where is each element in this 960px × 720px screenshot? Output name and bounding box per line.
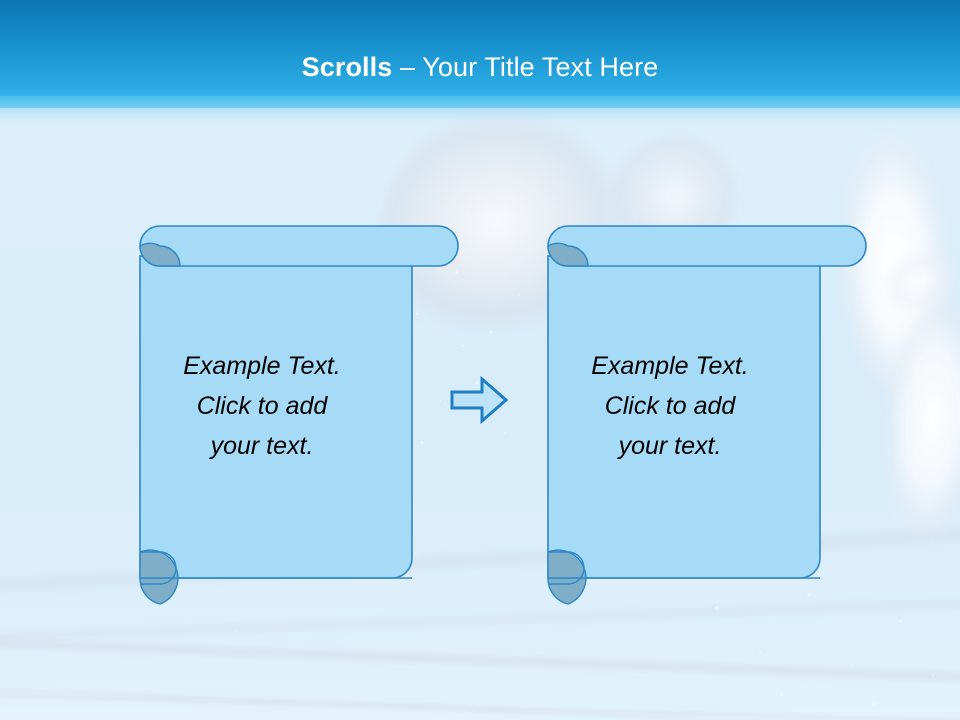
right-scroll-text[interactable]: Example Text. Click to add your text. (530, 346, 810, 466)
left-scroll-shape[interactable]: Example Text. Click to add your text. (88, 212, 478, 592)
left-scroll-text[interactable]: Example Text. Click to add your text. (122, 346, 402, 466)
left-scroll-top-roll (140, 226, 458, 266)
slide-canvas: Scrolls – Your Title Text Here Example T… (0, 0, 960, 720)
right-scroll-top-roll (548, 226, 866, 266)
right-scroll-shape[interactable]: Example Text. Click to add your text. (496, 212, 886, 592)
page-title-bold: Scrolls (302, 52, 393, 82)
title-band-fade (0, 96, 960, 122)
water-splash-bottom-left (20, 600, 320, 710)
page-title-separator: – (392, 52, 422, 82)
page-title: Scrolls – Your Title Text Here (0, 52, 960, 83)
page-title-light: Your Title Text Here (422, 52, 658, 82)
